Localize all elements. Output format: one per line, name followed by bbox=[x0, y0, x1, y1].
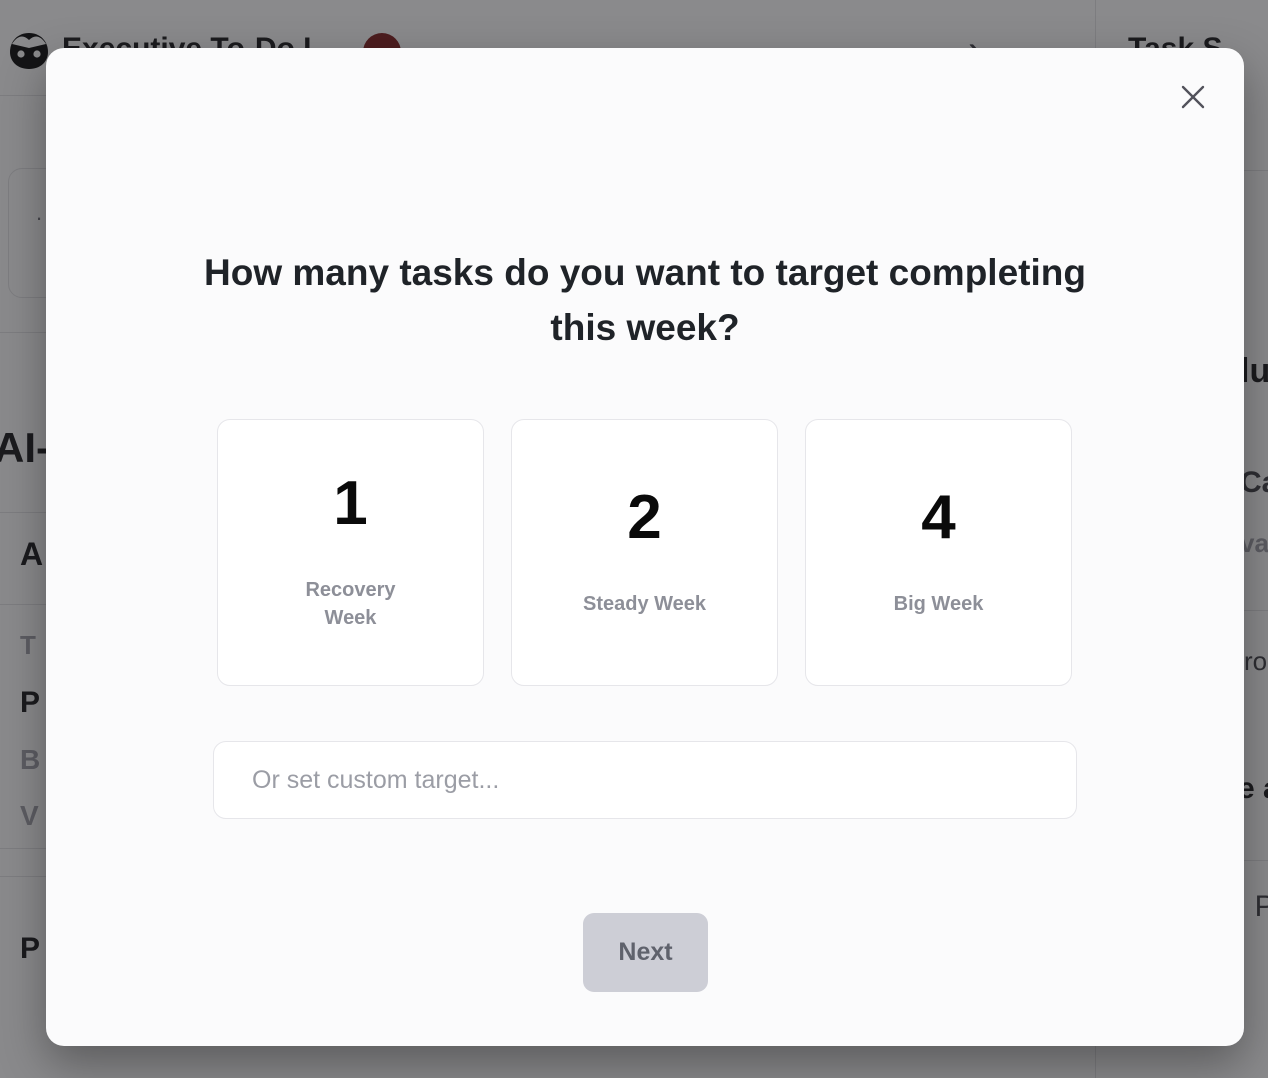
weekly-target-modal: How many tasks do you want to target com… bbox=[46, 48, 1244, 1046]
target-option-number: 2 bbox=[627, 487, 661, 549]
close-icon bbox=[1180, 84, 1206, 110]
target-option-label: Big Week bbox=[894, 590, 984, 618]
next-button[interactable]: Next bbox=[583, 913, 708, 992]
target-option-2[interactable]: 2 Steady Week bbox=[511, 419, 778, 686]
target-option-number: 1 bbox=[333, 473, 367, 535]
target-option-1[interactable]: 1 Recovery Week bbox=[217, 419, 484, 686]
target-option-label: Recovery Week bbox=[281, 576, 421, 633]
target-option-label: Steady Week bbox=[583, 590, 706, 618]
target-options-group: 1 Recovery Week 2 Steady Week 4 Big Week bbox=[217, 419, 1073, 686]
target-option-3[interactable]: 4 Big Week bbox=[805, 419, 1072, 686]
custom-target-input[interactable] bbox=[213, 741, 1077, 819]
app-root: Executive To-Do L › ... AI- A T P B V P … bbox=[0, 0, 1268, 1078]
target-option-number: 4 bbox=[921, 487, 955, 549]
modal-heading: How many tasks do you want to target com… bbox=[46, 246, 1244, 356]
close-button[interactable] bbox=[1170, 74, 1216, 120]
